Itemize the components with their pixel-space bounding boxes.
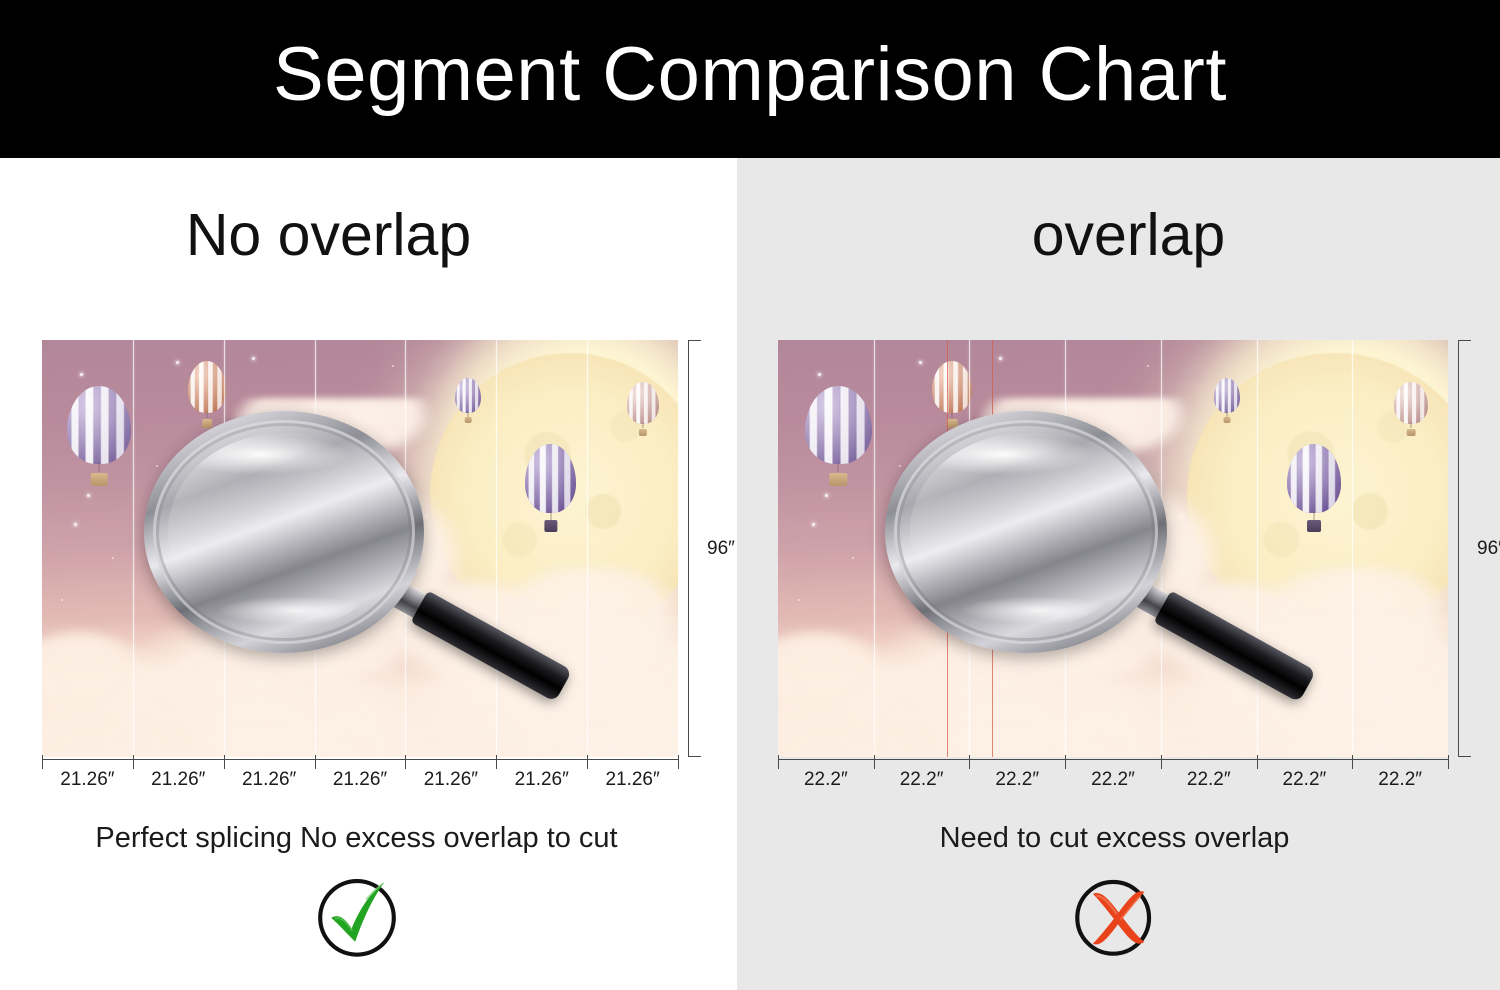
star-icon [825,494,828,497]
segment-label: 21.26″ [242,769,296,791]
segment-label: 21.26″ [424,769,478,791]
magnifier-icon [885,411,1166,653]
mural-figure-no-overlap [42,340,678,757]
segment-label: 22.2″ [900,769,944,791]
verdict-overlap [733,870,1496,962]
mural-figure-overlap [778,340,1448,757]
header-bar: Segment Comparison Chart [0,0,1500,158]
segment-label: 22.2″ [995,769,1039,791]
segment-label: 22.2″ [1187,769,1231,791]
seam-line [874,340,875,757]
height-dimension-left: 96″ [688,340,710,757]
segment-label: 21.26″ [60,769,114,791]
hot-air-balloon-icon [805,386,872,486]
star-icon [818,373,821,376]
star-icon [61,599,63,601]
height-dimension-label: 96″ [707,538,735,560]
segment-label: 22.2″ [1091,769,1135,791]
segment-label: 22.2″ [1378,769,1422,791]
cross-circle-icon [1069,870,1161,962]
segment-label: 22.2″ [1283,769,1327,791]
page-title: Segment Comparison Chart [273,37,1227,113]
star-icon [80,373,83,376]
seam-line [1352,340,1353,757]
panel-overlap: overlap [737,158,1500,990]
panel-heading-no-overlap: No overlap [0,206,697,265]
segment-dimension-chain-left: 21.26″ 21.26″ 21.26″ 21.26″ 21.26″ 21.26… [42,759,678,775]
seam-line [496,340,497,757]
star-icon [112,557,114,559]
star-icon [392,365,394,367]
seam-line [1257,340,1258,757]
mural-image-overlap [778,340,1448,757]
hot-air-balloon-icon [1214,378,1241,424]
segment-dimension-chain-right: 22.2″ 22.2″ 22.2″ 22.2″ 22.2″ 22.2″ 22.2… [778,759,1448,775]
star-icon [87,494,90,497]
hot-air-balloon-icon [1394,382,1428,436]
magnifier-icon [144,411,424,653]
star-icon [1147,365,1149,367]
star-icon [176,361,179,364]
magnifier-lens [144,411,424,653]
seam-line [133,340,134,757]
star-icon [852,557,854,559]
caption-overlap: Need to cut excess overlap [733,824,1496,853]
seam-line [587,340,588,757]
segment-label: 21.26″ [151,769,205,791]
segment-label: 22.2″ [804,769,848,791]
hot-air-balloon-icon [1287,444,1341,532]
mural-image-no-overlap [42,340,678,757]
segment-label: 21.26″ [333,769,387,791]
hot-air-balloon-icon [627,382,659,436]
verdict-no-overlap [0,870,725,962]
check-circle-icon [311,870,403,962]
star-icon [919,361,922,364]
caption-no-overlap: Perfect splicing No excess overlap to cu… [0,824,725,853]
star-icon [798,599,800,601]
panel-no-overlap: No overlap [0,158,737,990]
comparison-panels: No overlap [0,158,1500,990]
magnifier-lens [885,411,1166,653]
star-icon [812,523,815,526]
star-icon [999,357,1002,360]
hot-air-balloon-icon [67,386,131,486]
star-icon [74,523,77,526]
segment-label: 21.26″ [515,769,569,791]
star-icon [252,357,255,360]
height-dimension-label: 96″ [1477,538,1500,560]
hot-air-balloon-icon [525,444,576,532]
segment-label: 21.26″ [605,769,659,791]
height-dimension-right: 96″ [1458,340,1480,757]
panel-heading-overlap: overlap [747,206,1500,265]
hot-air-balloon-icon [455,378,480,424]
